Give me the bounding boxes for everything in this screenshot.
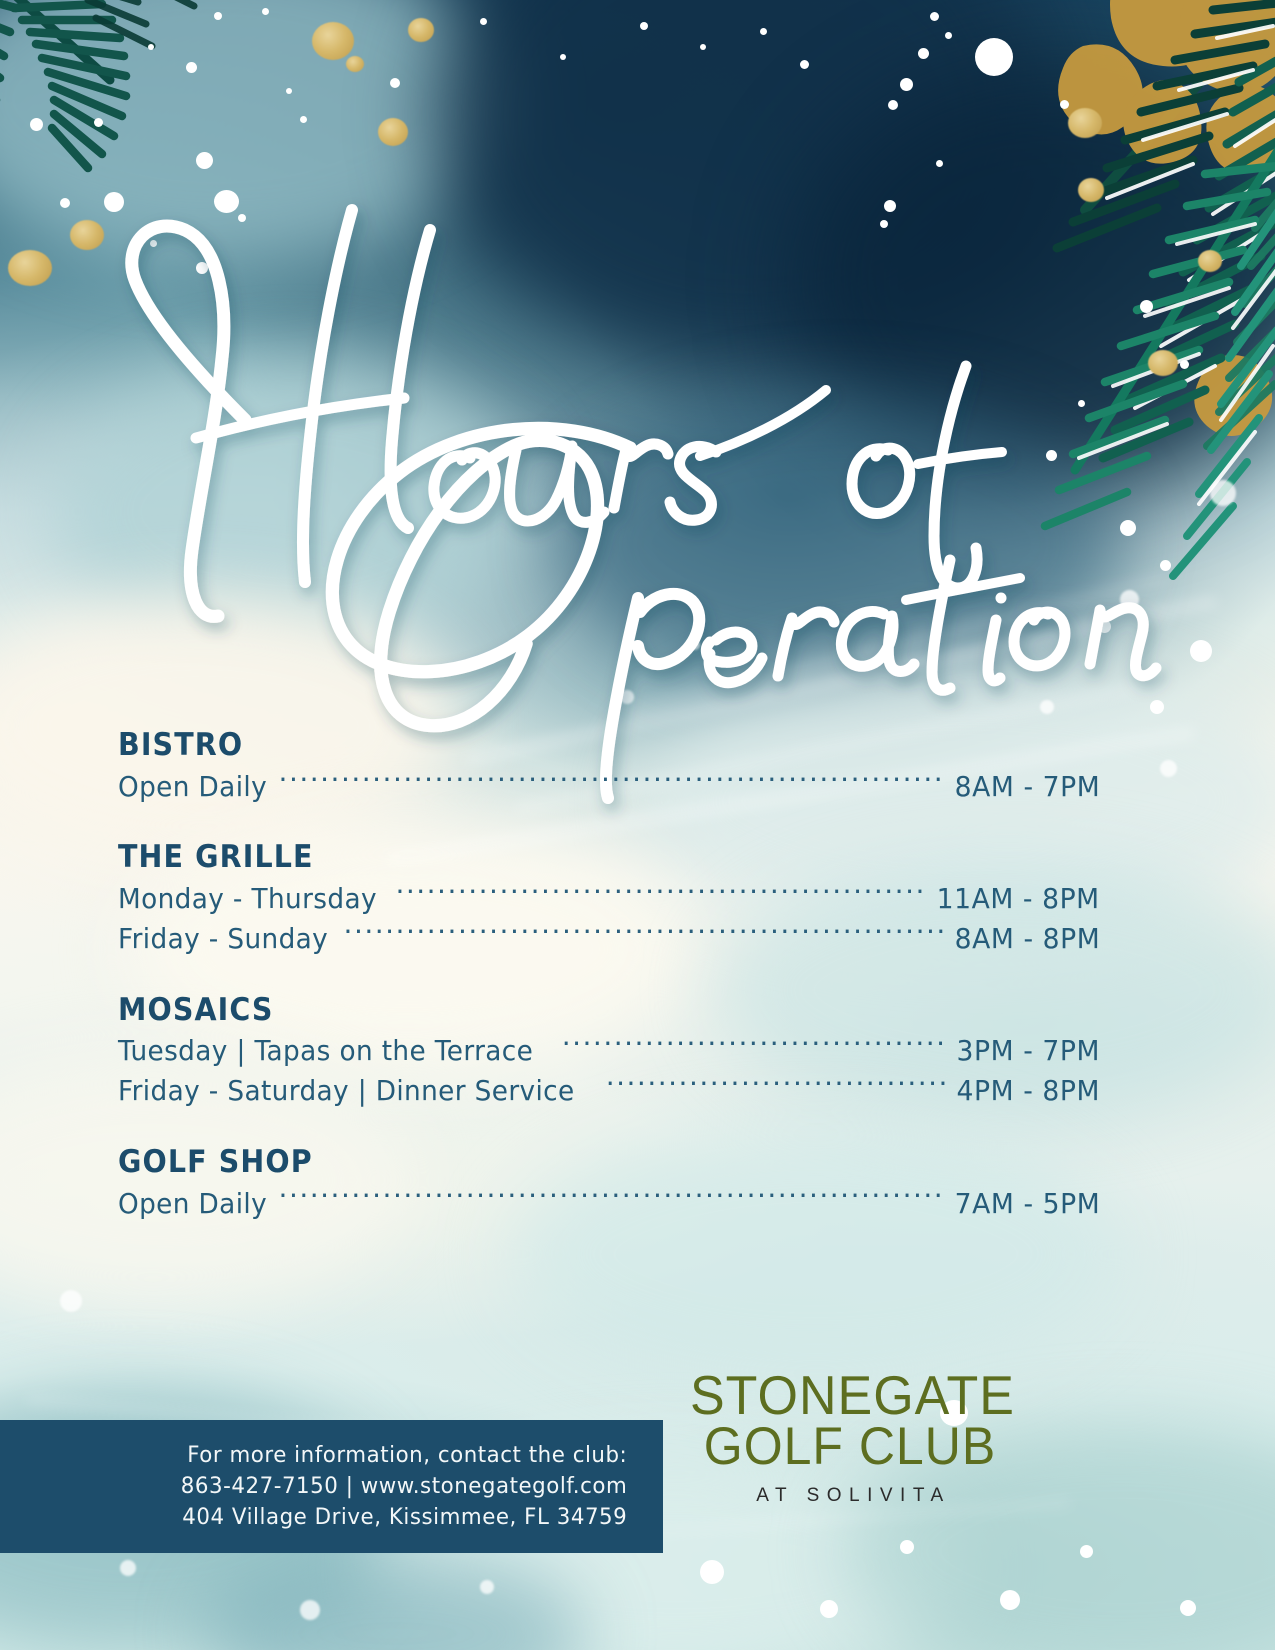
hours-label: Friday - Sunday — [118, 919, 328, 959]
hours-row: Open Daily 8AM - 7PM — [118, 767, 1100, 807]
dot-leader — [279, 768, 945, 796]
dot-leader — [606, 1072, 947, 1100]
logo-line-golf-club: GOLF CLUB — [690, 1418, 1010, 1474]
hours-label: Open Daily — [118, 1184, 267, 1224]
hours-time: 11AM - 8PM — [937, 879, 1100, 919]
hours-row: Open Daily 7AM - 5PM — [118, 1184, 1100, 1224]
hours-time: 7AM - 5PM — [954, 1184, 1100, 1224]
hours-row: Monday - Thursday 11AM - 8PM — [118, 879, 1100, 919]
dot-leader — [395, 880, 926, 908]
section-title: BISTRO — [118, 728, 1021, 763]
hours-row: Friday - Saturday | Dinner Service 4PM -… — [118, 1071, 1100, 1111]
stonegate-logo: STONEGATE GOLF CLUB AT SOLIVITA — [690, 1370, 1010, 1507]
contact-info: For more information, contact the club: … — [167, 1440, 627, 1534]
hours-label: Tuesday | Tapas on the Terrace — [118, 1031, 533, 1071]
hours-row: Tuesday | Tapas on the Terrace 3PM - 7PM — [118, 1031, 1100, 1071]
section-title: MOSAICS — [118, 993, 1021, 1028]
hours-time: 3PM - 7PM — [957, 1031, 1100, 1071]
flyer-page: BISTRO Open Daily 8AM - 7PM THE GRILLE M… — [0, 0, 1275, 1650]
dot-leader — [279, 1185, 945, 1213]
section-title: THE GRILLE — [118, 840, 1021, 875]
hours-section: BISTRO Open Daily 8AM - 7PM — [118, 728, 1100, 806]
section-title: GOLF SHOP — [118, 1145, 1021, 1180]
hours-time: 4PM - 8PM — [957, 1071, 1100, 1111]
hours-section: MOSAICS Tuesday | Tapas on the Terrace 3… — [118, 993, 1100, 1111]
dot-leader — [344, 920, 945, 948]
contact-bar: For more information, contact the club: … — [0, 1420, 663, 1553]
logo-line-at-solivita: AT SOLIVITA — [690, 1485, 1010, 1507]
contact-line-address: 404 Village Drive, Kissimmee, FL 34759 — [181, 1502, 627, 1533]
logo-line-stonegate: STONEGATE — [690, 1368, 1010, 1423]
hours-section: THE GRILLE Monday - Thursday 11AM - 8PM … — [118, 840, 1100, 958]
hours-label: Friday - Saturday | Dinner Service — [118, 1071, 575, 1111]
hours-time: 8AM - 7PM — [954, 767, 1100, 807]
contact-line-intro: For more information, contact the club: — [181, 1440, 627, 1471]
dot-leader — [562, 1032, 947, 1060]
hours-section: GOLF SHOP Open Daily 7AM - 5PM — [118, 1145, 1100, 1223]
hours-time: 8AM - 8PM — [954, 919, 1100, 959]
hours-label: Monday - Thursday — [118, 879, 377, 919]
contact-line-phone-web[interactable]: 863-427-7150 | www.stonegategolf.com — [181, 1471, 627, 1502]
hours-list: BISTRO Open Daily 8AM - 7PM THE GRILLE M… — [118, 728, 1100, 1223]
hours-label: Open Daily — [118, 767, 267, 807]
hours-row: Friday - Sunday 8AM - 8PM — [118, 919, 1100, 959]
